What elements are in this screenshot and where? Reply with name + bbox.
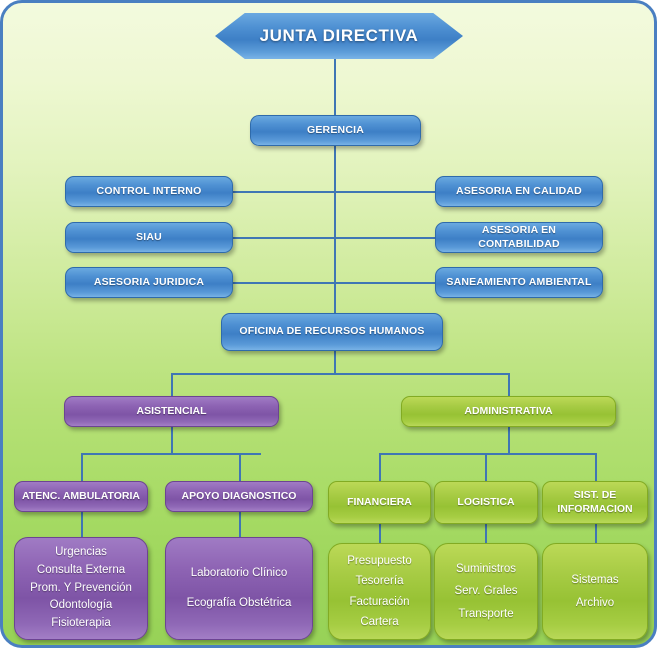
node-siau[interactable]: SIAU bbox=[65, 222, 233, 253]
connector-staff-row-3-right bbox=[334, 282, 435, 284]
leaf-item: Consulta Externa bbox=[37, 562, 125, 580]
connector-division-asistencial bbox=[171, 373, 173, 397]
connector-financiera bbox=[379, 453, 381, 482]
connector-administrativa-bus bbox=[379, 453, 596, 455]
leaf-logistica[interactable]: Suministros Serv. Grales Transporte bbox=[434, 543, 538, 640]
leaf-atenc-ambulatoria[interactable]: Urgencias Consulta Externa Prom. Y Preve… bbox=[14, 537, 148, 640]
node-saneamiento-ambiental[interactable]: SANEAMIENTO AMBIENTAL bbox=[435, 267, 603, 298]
leaf-item: Laboratorio Clínico bbox=[191, 559, 288, 589]
connector-logistica-to-leaf bbox=[485, 524, 487, 543]
node-administrativa[interactable]: ADMINISTRATIVA bbox=[401, 396, 616, 427]
node-logistica[interactable]: LOGISTICA bbox=[434, 481, 538, 524]
connector-apoyo-diagnostico-to-leaf bbox=[239, 512, 241, 537]
leaf-item: Ecografía Obstétrica bbox=[187, 589, 292, 619]
connector-sist-informacion-to-leaf bbox=[595, 524, 597, 543]
connector-atenc-ambulatoria-to-leaf bbox=[81, 512, 83, 537]
leaf-item: Cartera bbox=[360, 612, 398, 632]
leaf-item: Suministros bbox=[456, 558, 516, 580]
leaf-item: Prom. Y Prevención bbox=[30, 580, 132, 598]
node-oficina-recursos-humanos[interactable]: OFICINA DE RECURSOS HUMANOS bbox=[221, 313, 443, 351]
leaf-item: Sistemas bbox=[571, 569, 618, 591]
leaf-item: Facturación bbox=[349, 592, 409, 612]
leaf-sist-informacion[interactable]: Sistemas Archivo bbox=[542, 543, 648, 640]
connector-logistica bbox=[485, 453, 487, 482]
connector-asistencial-down bbox=[171, 427, 173, 453]
leaf-apoyo-diagnostico[interactable]: Laboratorio Clínico Ecografía Obstétrica bbox=[165, 537, 313, 640]
org-chart-canvas: JUNTA DIRECTIVA GERENCIA CONTROL INTERNO… bbox=[0, 0, 657, 648]
connector-asistencial-bus bbox=[81, 453, 261, 455]
connector-sist-informacion bbox=[595, 453, 597, 482]
connector-staff-row-2-left bbox=[233, 237, 335, 239]
connector-hr-down bbox=[334, 351, 336, 373]
connector-divisions-bus bbox=[171, 373, 509, 375]
node-sist-informacion[interactable]: SIST. DE INFORMACION bbox=[542, 481, 648, 524]
connector-staff-row-2-right bbox=[334, 237, 435, 239]
node-apoyo-diagnostico[interactable]: APOYO DIAGNOSTICO bbox=[165, 481, 313, 512]
connector-management-spine bbox=[334, 145, 336, 313]
leaf-item: Archivo bbox=[576, 592, 614, 614]
node-atenc-ambulatoria[interactable]: ATENC. AMBULATORIA bbox=[14, 481, 148, 512]
leaf-item: Odontología bbox=[50, 597, 113, 615]
leaf-financiera[interactable]: Presupuesto Tesorería Facturación Carter… bbox=[328, 543, 431, 640]
node-junta-directiva[interactable]: JUNTA DIRECTIVA bbox=[215, 13, 463, 59]
connector-apoyo-diagnostico bbox=[239, 453, 241, 482]
node-gerencia[interactable]: GERENCIA bbox=[250, 115, 421, 146]
connector-staff-row-3-left bbox=[233, 282, 335, 284]
node-asesoria-en-contabilidad[interactable]: ASESORIA EN CONTABILIDAD bbox=[435, 222, 603, 253]
connector-division-administrativa bbox=[508, 373, 510, 397]
connector-administrativa-down bbox=[508, 427, 510, 453]
node-asesoria-juridica[interactable]: ASESORIA JURIDICA bbox=[65, 267, 233, 298]
leaf-item: Presupuesto bbox=[347, 551, 412, 571]
leaf-item: Serv. Grales bbox=[454, 580, 517, 602]
connector-staff-row-1-left bbox=[233, 191, 335, 193]
leaf-item: Tesorería bbox=[356, 571, 404, 591]
leaf-item: Urgencias bbox=[55, 544, 107, 562]
node-financiera[interactable]: FINANCIERA bbox=[328, 481, 431, 524]
connector-staff-row-1-right bbox=[334, 191, 435, 193]
connector-board-to-management bbox=[334, 58, 336, 115]
node-asesoria-en-calidad[interactable]: ASESORIA EN CALIDAD bbox=[435, 176, 603, 207]
leaf-item: Transporte bbox=[458, 603, 513, 625]
leaf-item: Fisioterapia bbox=[51, 615, 110, 633]
connector-financiera-to-leaf bbox=[379, 524, 381, 543]
connector-atenc-ambulatoria bbox=[81, 453, 83, 482]
node-control-interno[interactable]: CONTROL INTERNO bbox=[65, 176, 233, 207]
node-asistencial[interactable]: ASISTENCIAL bbox=[64, 396, 279, 427]
